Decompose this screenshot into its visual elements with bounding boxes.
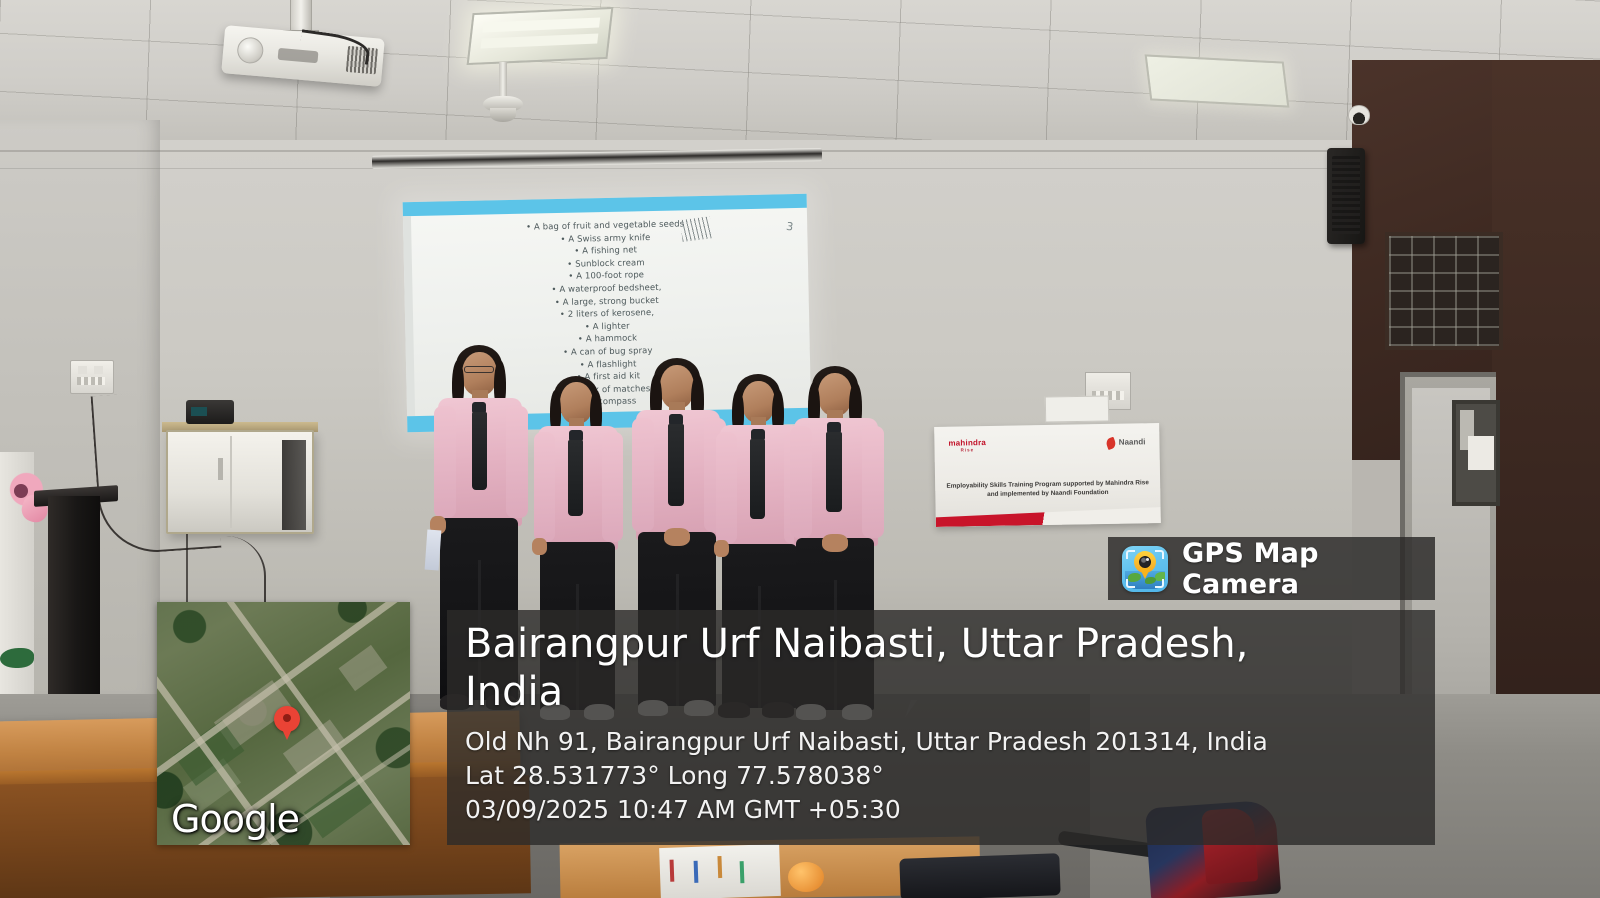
person-4-arm-left bbox=[716, 432, 737, 544]
mahindra-logo: mahindra Rise bbox=[948, 438, 986, 453]
notice-board bbox=[1452, 400, 1500, 506]
electronic-device bbox=[186, 400, 234, 424]
person-5-arm-right bbox=[862, 426, 884, 538]
person-5-arm-left bbox=[790, 426, 812, 538]
viewfinder-corner-bl-icon bbox=[1126, 579, 1135, 588]
papers-on-table bbox=[659, 844, 781, 898]
wall-speaker-icon bbox=[1327, 148, 1365, 244]
gps-map-camera-logo-icon bbox=[1122, 546, 1168, 592]
person-4-tie bbox=[750, 439, 765, 519]
ceiling-light-panel bbox=[467, 7, 614, 65]
wall-small-notice bbox=[1045, 395, 1109, 422]
slide-scribble bbox=[680, 216, 713, 242]
naandi-mark-icon bbox=[1105, 437, 1117, 450]
location-details: Old Nh 91, Bairangpur Urf Naibasti, Utta… bbox=[465, 725, 1425, 827]
cabinet-side-panel bbox=[282, 440, 306, 530]
podium bbox=[48, 496, 100, 718]
photo-canvas: • A bag of fruit and vegetable seeds • A… bbox=[0, 0, 1600, 898]
dome-camera-icon bbox=[1348, 105, 1370, 125]
coordinates-line: Lat 28.531773° Long 77.578038° bbox=[465, 759, 1425, 793]
laptop-bag bbox=[899, 853, 1060, 898]
program-banner: mahindra Rise Naandi Employability Skill… bbox=[934, 423, 1161, 527]
person-1-arm-right bbox=[506, 406, 528, 518]
ceiling-fan-rod bbox=[499, 62, 507, 100]
viewfinder-corner-tl-icon bbox=[1126, 550, 1135, 559]
orange-fruit bbox=[788, 862, 824, 892]
ceiling-fan-cap bbox=[490, 108, 516, 122]
viewfinder-corner-tr-icon bbox=[1155, 550, 1164, 559]
person-1-glasses-icon bbox=[464, 366, 494, 373]
person-1-paper bbox=[425, 530, 442, 571]
person-5-tie bbox=[826, 432, 842, 512]
person-3-arm-left bbox=[632, 418, 654, 532]
person-5-hands-clasped bbox=[822, 534, 848, 552]
naandi-logo: Naandi bbox=[1119, 437, 1146, 446]
map-thumbnail[interactable]: Google bbox=[157, 602, 410, 845]
gps-info-panel: Bairangpur Urf Naibasti, Uttar Pradesh, … bbox=[447, 610, 1435, 845]
naandi-logo-text: Naandi bbox=[1119, 437, 1146, 446]
map-pin-icon bbox=[274, 706, 300, 732]
plant-leaf bbox=[0, 648, 34, 668]
viewfinder-corner-br-icon bbox=[1155, 579, 1164, 588]
location-title: Bairangpur Urf Naibasti, Uttar Pradesh, … bbox=[465, 620, 1325, 716]
person-3-hands-clasped bbox=[664, 528, 690, 546]
wall-seam-2 bbox=[0, 168, 1352, 169]
person-2-tie bbox=[568, 440, 583, 516]
banner-text: Employability Skills Training Program su… bbox=[943, 478, 1152, 500]
address-line: Old Nh 91, Bairangpur Urf Naibasti, Utta… bbox=[465, 725, 1425, 759]
timestamp-line: 03/09/2025 10:47 AM GMT +05:30 bbox=[465, 793, 1425, 827]
mahindra-logo-text: mahindra bbox=[948, 438, 986, 448]
cabinet-handle bbox=[218, 458, 223, 480]
person-2-arm-right bbox=[602, 432, 623, 542]
projector-lens bbox=[236, 36, 264, 64]
gps-map-camera-badge: GPS Map Camera bbox=[1108, 537, 1435, 600]
google-watermark: Google bbox=[171, 797, 299, 841]
ceiling-light-panel-2 bbox=[1145, 54, 1290, 107]
person-1-tie bbox=[472, 412, 487, 490]
gps-map-camera-label: GPS Map Camera bbox=[1182, 538, 1435, 600]
person-2-hand bbox=[532, 538, 547, 555]
person-4-hand bbox=[714, 540, 729, 557]
person-3-tie bbox=[668, 424, 684, 506]
mahindra-logo-sub: Rise bbox=[949, 447, 987, 453]
window-grill bbox=[1385, 232, 1503, 350]
notice-paper bbox=[1468, 436, 1494, 470]
person-2-arm-left bbox=[534, 432, 555, 542]
cabinet-door-seam bbox=[230, 436, 232, 528]
switch-plate-left bbox=[70, 360, 114, 394]
person-1-arm-left bbox=[434, 406, 456, 518]
camera-lens-icon bbox=[1139, 556, 1151, 568]
